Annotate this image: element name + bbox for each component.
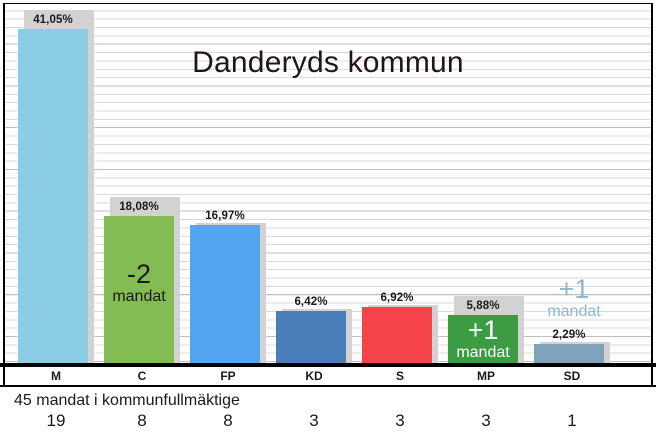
- seat-count-fp: 8: [185, 411, 271, 431]
- category-label-m: M: [13, 369, 99, 383]
- category-label-kd: KD: [271, 369, 357, 383]
- bar-m[interactable]: [18, 29, 88, 363]
- value-label-sd: 2,29%: [534, 329, 604, 341]
- value-label-s: 6,92%: [362, 292, 432, 304]
- mandate-change-number: +1: [448, 317, 518, 344]
- plot-area: Danderyds kommun 41,05%18,08%-2mandat16,…: [3, 3, 653, 363]
- seat-count-kd: 3: [271, 411, 357, 431]
- bar-sd[interactable]: [534, 344, 604, 363]
- seat-count-sd: 1: [529, 411, 615, 431]
- chart-title: Danderyds kommun: [5, 46, 651, 80]
- bar-s[interactable]: [362, 307, 432, 363]
- mandate-change-word: mandat: [448, 345, 518, 361]
- category-label-fp: FP: [185, 369, 271, 383]
- category-label-s: S: [357, 369, 443, 383]
- value-label-mp: 5,88%: [448, 300, 518, 312]
- seat-count-s: 3: [357, 411, 443, 431]
- category-label-sd: SD: [529, 369, 615, 383]
- seat-count-m: 19: [13, 411, 99, 431]
- category-label-mp: MP: [443, 369, 529, 383]
- chart-screenshot: Danderyds kommun 41,05%18,08%-2mandat16,…: [0, 0, 656, 438]
- bar-fp[interactable]: [190, 225, 260, 363]
- value-label-m: 41,05%: [18, 14, 88, 26]
- mandate-change-mp: +1mandat: [448, 317, 518, 361]
- value-label-fp: 16,97%: [190, 210, 260, 222]
- seat-count-c: 8: [99, 411, 185, 431]
- seat-count-mp: 3: [443, 411, 529, 431]
- bar-kd[interactable]: [276, 311, 346, 363]
- category-strip-rule: [0, 385, 656, 387]
- mandate-change-c: -2mandat: [104, 261, 174, 305]
- value-label-kd: 6,42%: [276, 296, 346, 308]
- mandate-change-word: mandat: [531, 304, 617, 320]
- mandate-change-number: +1: [531, 276, 617, 303]
- category-label-c: C: [99, 369, 185, 383]
- mandate-change-sd: +1mandat: [531, 276, 617, 320]
- seats-total-note: 45 mandat i kommunfullmäktige: [14, 392, 240, 410]
- mandate-change-number: -2: [104, 261, 174, 288]
- mandate-change-word: mandat: [104, 289, 174, 305]
- value-label-c: 18,08%: [104, 201, 174, 213]
